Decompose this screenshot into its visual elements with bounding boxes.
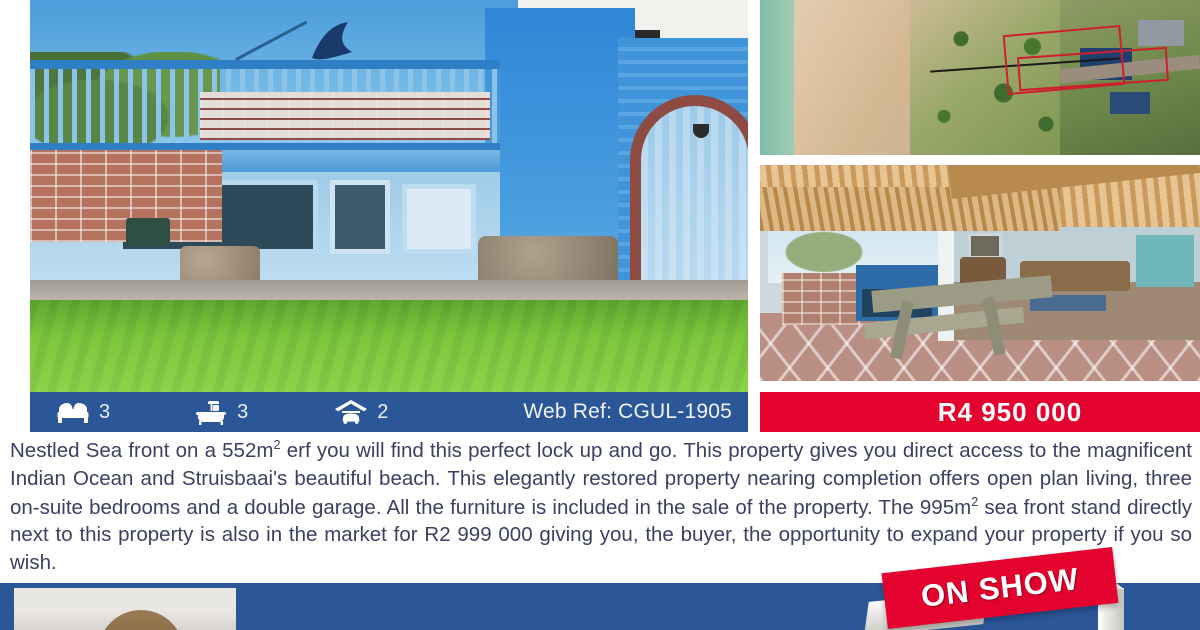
feature-bathrooms: 3 bbox=[194, 399, 248, 425]
bed-icon bbox=[56, 399, 90, 425]
main-property-photo[interactable] bbox=[30, 0, 748, 392]
patio-photo[interactable] bbox=[760, 165, 1200, 381]
balcony-brick-band bbox=[200, 92, 490, 140]
on-show-label: ON SHOW bbox=[919, 561, 1081, 615]
lawn bbox=[30, 300, 748, 392]
agent-hair bbox=[98, 610, 184, 630]
aerial-photo[interactable] bbox=[760, 0, 1200, 155]
price-value: R4 950 000 bbox=[938, 397, 1082, 428]
french-door bbox=[402, 184, 476, 254]
feature-garages: 2 bbox=[334, 399, 388, 425]
patio-opening-2 bbox=[330, 180, 390, 254]
feature-bedrooms: 3 bbox=[56, 399, 110, 425]
web-reference: Web Ref: CGUL-1905 bbox=[523, 400, 732, 424]
price-bar: R4 950 000 bbox=[760, 392, 1200, 432]
roof-3 bbox=[1110, 92, 1150, 114]
garage-icon bbox=[334, 399, 368, 425]
wall-art bbox=[968, 233, 1002, 259]
flag-icon bbox=[308, 22, 364, 82]
patio-paving bbox=[30, 280, 748, 302]
listing-card: 3 3 2 Web Ref: bbox=[0, 0, 1200, 630]
property-description: Nestled Sea front on a 552m2 erf you wil… bbox=[10, 436, 1192, 578]
bathrooms-count: 3 bbox=[237, 401, 248, 424]
bath-icon bbox=[194, 399, 228, 425]
agent-photo[interactable] bbox=[14, 588, 236, 630]
garages-count: 2 bbox=[377, 401, 388, 424]
roof-2 bbox=[1138, 20, 1184, 46]
feature-bar: 3 3 2 Web Ref: bbox=[30, 392, 748, 432]
bedrooms-count: 3 bbox=[99, 401, 110, 424]
garden-bin bbox=[126, 218, 170, 246]
kitchen-cabinets bbox=[1136, 235, 1194, 287]
pergola-roof-secondary bbox=[760, 187, 1060, 231]
